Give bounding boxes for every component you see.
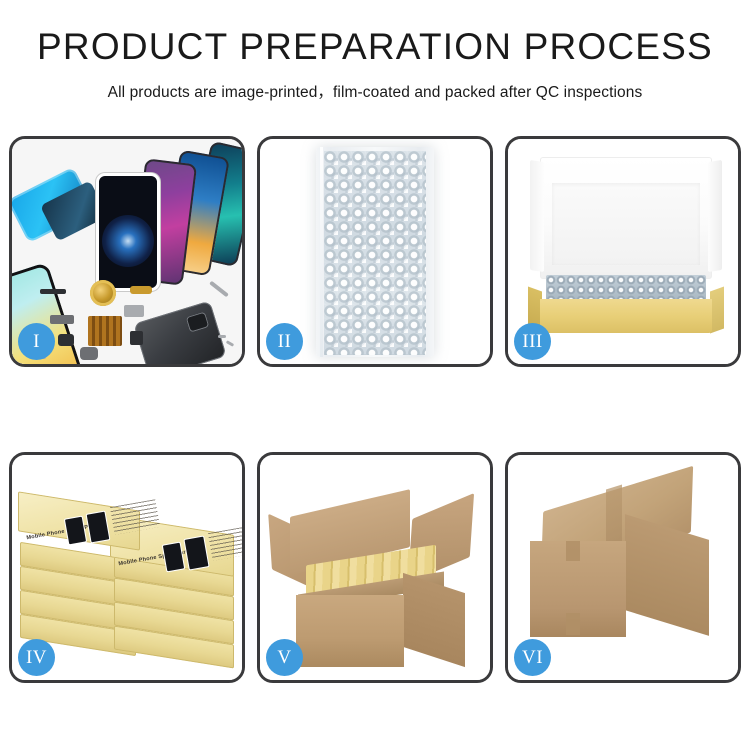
carton-tape-upper xyxy=(566,541,580,561)
phone-notch xyxy=(116,176,140,182)
vibrator-part xyxy=(80,347,98,360)
step-panel-2: II xyxy=(257,136,493,367)
box-inner-wall xyxy=(552,183,700,265)
step-panel-5: V xyxy=(257,452,493,683)
speaker-coil-part xyxy=(90,280,116,306)
button-part xyxy=(130,331,143,345)
phone-black-front xyxy=(96,173,160,291)
screen-burst-wallpaper xyxy=(102,215,154,267)
yellow-box-front xyxy=(540,299,712,333)
step-badge-6: VI xyxy=(514,639,551,676)
step-badge-2: II xyxy=(266,323,303,360)
bubble-wrapped-contents xyxy=(546,275,706,301)
screw-part xyxy=(218,335,226,338)
page-title: PRODUCT PREPARATION PROCESS xyxy=(0,28,750,65)
bubble-texture xyxy=(324,151,426,355)
step-panel-1: I xyxy=(9,136,245,367)
small-chip-part xyxy=(58,334,74,346)
step-badge-4: IV xyxy=(18,639,55,676)
carton-tape-lower xyxy=(566,613,580,635)
flex-cable-part xyxy=(40,289,66,294)
carton-side-panel xyxy=(625,514,709,636)
step-badge-3: III xyxy=(514,323,551,360)
bag-seam xyxy=(320,147,323,357)
camera-module-part xyxy=(124,305,144,317)
bubble-wrap-bag xyxy=(316,147,434,357)
screw-part xyxy=(226,340,234,347)
step-badge-5: V xyxy=(266,639,303,676)
phone-back-housing xyxy=(133,301,226,364)
header: PRODUCT PREPARATION PROCESS All products… xyxy=(0,0,750,102)
box-stack: Mobile Phone Spare Parts Mobile Phone Sp… xyxy=(18,477,238,667)
product-preparation-infographic: PRODUCT PREPARATION PROCESS All products… xyxy=(0,0,750,750)
carton-side-panel xyxy=(403,573,465,667)
process-steps-grid: I II III xyxy=(9,136,741,683)
box-side-right xyxy=(710,286,724,333)
step-panel-4: Mobile Phone Spare Parts Mobile Phone Sp… xyxy=(9,452,245,683)
step-panel-3: III xyxy=(505,136,741,367)
step-panel-6: VI xyxy=(505,452,741,683)
step-badge-1: I xyxy=(18,323,55,360)
page-subtitle: All products are image-printed，film-coat… xyxy=(0,80,750,102)
connector-part xyxy=(50,315,74,324)
tweezers-part xyxy=(209,281,229,298)
carton-front-panel xyxy=(296,595,404,667)
chip-array-part xyxy=(88,316,122,346)
gold-bracket-part xyxy=(130,286,152,294)
